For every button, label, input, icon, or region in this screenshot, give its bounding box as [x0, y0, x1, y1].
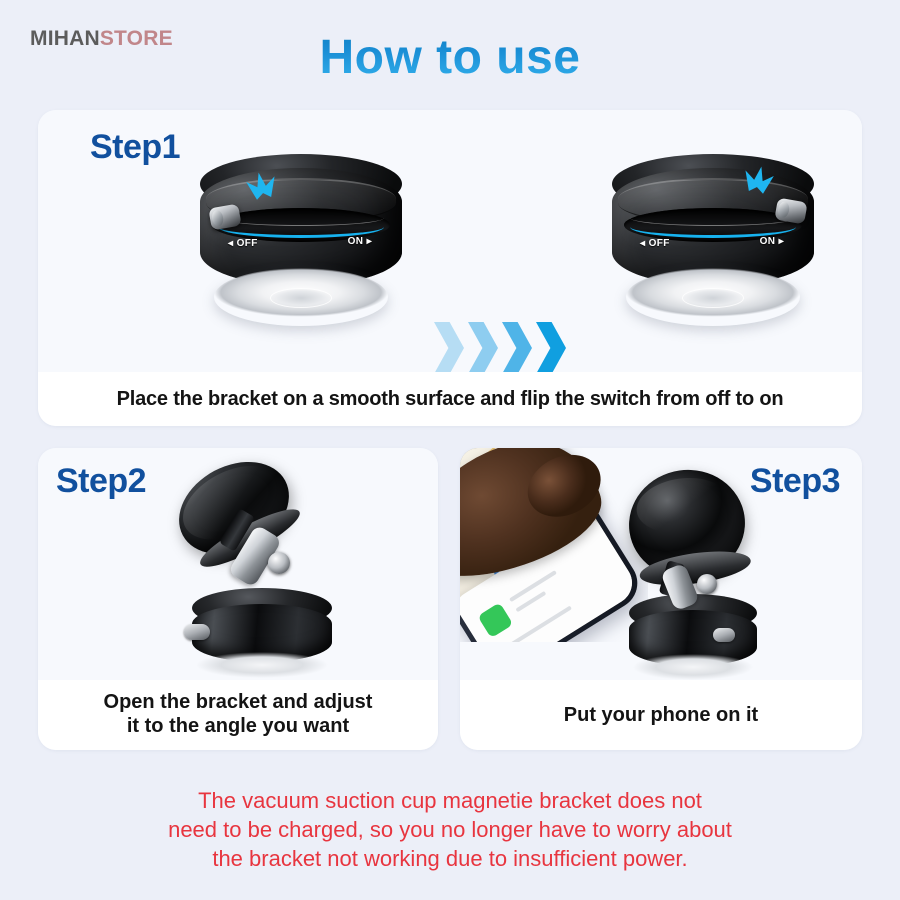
switch-on-label: ON ▸: [348, 236, 372, 247]
step-1-label: Step1: [90, 128, 180, 167]
suction-cup-base: [633, 654, 753, 680]
suction-cup-base: [196, 652, 328, 678]
chevron-right-icon: [502, 322, 532, 374]
sparkle-icon: [730, 152, 786, 194]
switch-on-label: ON ▸: [760, 236, 784, 247]
step-2-caption-line2: it to the angle you want: [127, 715, 349, 737]
side-screw-icon: [184, 624, 210, 640]
step-1-caption: Place the bracket on a smooth surface an…: [38, 372, 862, 426]
chevron-right-icon: [468, 322, 498, 374]
chevron-right-icon: [536, 322, 566, 374]
device-switch-track: [630, 216, 796, 238]
transition-arrows: [434, 322, 566, 374]
footer-note-line3: the bracket not working due to insuffici…: [0, 844, 900, 873]
device-switch-on: ◂ OFF ON ▸: [604, 150, 822, 330]
step-2-card: Step2 Open the bracket and adjust it to …: [38, 448, 438, 750]
switch-off-label: ◂ OFF: [228, 238, 258, 249]
poster-root: MIHANSTORE How to use Step1 ◂ OFF ON ▸: [0, 0, 900, 900]
footer-note-line2: need to be charged, so you no longer hav…: [0, 815, 900, 844]
chevron-right-icon: [434, 322, 464, 374]
step-2-caption: Open the bracket and adjust it to the an…: [38, 680, 438, 750]
switch-off-label: ◂ OFF: [640, 238, 670, 249]
page-title: How to use: [0, 30, 900, 85]
step-1-illustration: Step1 ◂ OFF ON ▸: [38, 110, 862, 372]
bracket-open: [156, 466, 366, 678]
suction-cup-base: [214, 268, 388, 326]
step-2-label: Step2: [56, 462, 146, 501]
step-2-illustration: Step2: [38, 448, 438, 680]
green-action-icon: [477, 602, 513, 638]
device-switch-track: [218, 216, 384, 238]
footer-note: The vacuum suction cup magnetie bracket …: [0, 786, 900, 873]
step-3-card: Step3: [460, 448, 862, 750]
disc-edge: [638, 546, 753, 591]
magnetic-disc: [622, 462, 752, 585]
step-1-card: Step1 ◂ OFF ON ▸: [38, 110, 862, 426]
bracket-base: [629, 594, 757, 672]
hinge-screw-icon: [268, 552, 290, 574]
device-switch-off: ◂ OFF ON ▸: [192, 150, 410, 330]
step-3-illustration: Step3: [460, 448, 862, 680]
hinge-screw-icon: [697, 574, 717, 594]
suction-cup-base: [626, 268, 800, 326]
step-2-caption-line1: Open the bracket and adjust: [104, 691, 373, 713]
bracket-upright: [605, 470, 795, 678]
sparkle-icon: [234, 158, 290, 200]
footer-note-line1: The vacuum suction cup magnetie bracket …: [0, 786, 900, 815]
side-screw-icon: [713, 628, 735, 642]
step-3-caption: Put your phone on it: [460, 680, 862, 750]
bracket-base: [192, 588, 332, 670]
